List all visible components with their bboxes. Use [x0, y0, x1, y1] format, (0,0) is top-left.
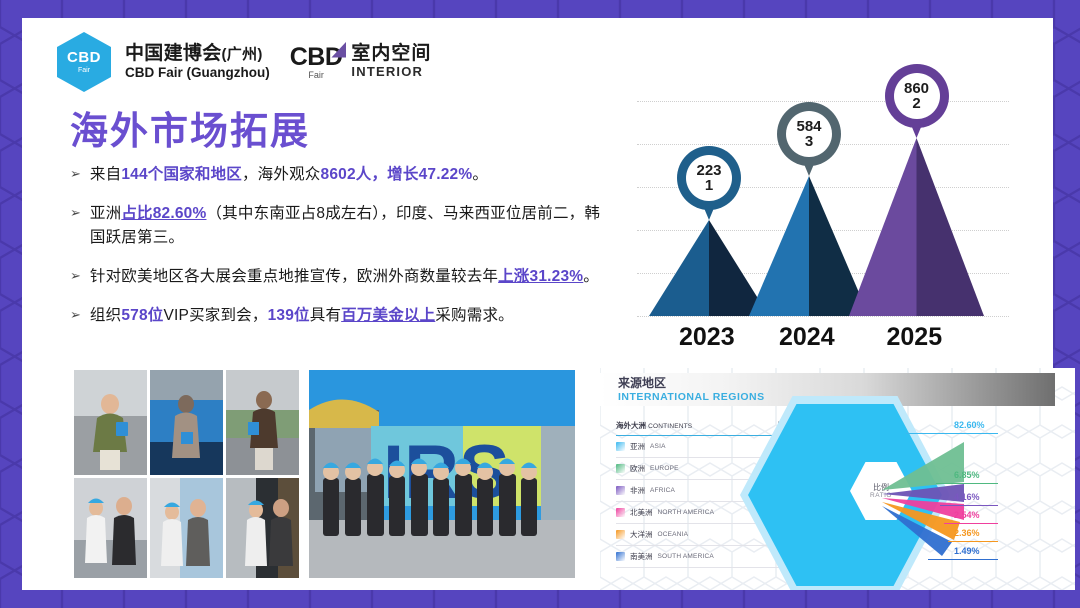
brand-name-en: CBD Fair (Guangzhou)	[125, 65, 270, 81]
highlight-run: 占比82.60%	[121, 205, 206, 222]
callout-percent-label: 4.16%	[954, 492, 980, 502]
region-name-zh: 南美洲	[630, 551, 653, 562]
callout-leader-line	[906, 433, 998, 434]
photo-thumb	[74, 478, 147, 578]
brand-text-block: 中国建博会(广州) CBD Fair (Guangzhou)	[125, 44, 270, 80]
callout-leader-line	[928, 559, 998, 560]
region-color-swatch-icon	[616, 486, 625, 495]
slide-root: CBD Fair 中国建博会(广州) CBD Fair (Guangzhou) …	[0, 0, 1080, 608]
interior-zh: 室内空间	[351, 44, 431, 65]
page-title: 海外市场拓展	[70, 100, 310, 155]
pin-value-line2: 1	[705, 178, 713, 193]
photo-thumb	[74, 370, 147, 475]
region-name-en: EUROPE	[650, 465, 679, 472]
regions-title-zh: 来源地区	[618, 376, 765, 391]
bullet-text: 针对欧美地区各大展会重点地推宣传，欧洲外商数量较去年上涨31.23%。	[90, 265, 599, 288]
region-name-en: NORTH AMERICA	[658, 509, 715, 516]
pin-value-label: 2231	[686, 155, 732, 201]
slide-canvas: CBD Fair 中国建博会(广州) CBD Fair (Guangzhou) …	[22, 18, 1053, 590]
highlight-run: 百万美金以上	[341, 307, 435, 324]
chart-value-pin: 2231	[677, 146, 741, 224]
chart-category-label: 2025	[887, 323, 943, 352]
callout-percent-label: 2.36%	[954, 528, 980, 538]
cbd-wordmark-icon: CBD Fair	[290, 45, 343, 80]
callout-percent-label: 2.54%	[954, 510, 980, 520]
text-run: 组织	[90, 307, 121, 324]
pin-value-line2: 3	[805, 134, 813, 149]
photo-grid	[74, 370, 299, 578]
highlight-run: 144个国家和地区	[121, 166, 242, 183]
logo-fair-text: Fair	[78, 67, 90, 74]
chart-value-pin: 8602	[885, 64, 949, 142]
international-regions-panel: 来源地区 INTERNATIONAL REGIONS 海外大洲 CONTINEN…	[600, 368, 1075, 590]
interior-en: INTERIOR	[351, 65, 431, 79]
text-run: 来自	[90, 166, 121, 183]
chart-category-label: 2024	[779, 323, 835, 352]
regions-heading: 来源地区 INTERNATIONAL REGIONS	[618, 376, 765, 403]
chart-value-pin: 5843	[777, 102, 841, 180]
text-run: 采购需求。	[435, 307, 514, 324]
text-run: 。	[583, 268, 599, 285]
cbd-interior-logo: CBD Fair 室内空间 INTERIOR	[290, 44, 432, 79]
logo-cbd-text: CBD	[67, 50, 101, 65]
region-name-en: AFRICA	[650, 487, 675, 494]
photo-collage: IRS	[74, 370, 575, 578]
pin-value-line1: 584	[796, 119, 821, 134]
highlight-run: 上涨31.23%	[498, 268, 583, 285]
region-name-zh: 北美洲	[630, 507, 653, 518]
region-name-zh: 欧洲	[630, 463, 645, 474]
photo-thumb	[150, 370, 223, 475]
bullet-item: ➢来自144个国家和地区，海外观众8602人，增长47.22%。	[70, 163, 610, 186]
region-name-zh: 大洋洲	[630, 529, 653, 540]
photo-thumb	[226, 478, 299, 578]
highlight-run: 139位	[268, 307, 310, 324]
pin-value-label: 5843	[786, 111, 832, 157]
header-logo-bar: CBD Fair 中国建博会(广州) CBD Fair (Guangzhou) …	[57, 32, 431, 92]
cbd-fair-hex-logo-icon: CBD Fair	[57, 32, 111, 92]
photo-thumb	[150, 478, 223, 578]
region-color-swatch-icon	[616, 464, 625, 473]
pin-value-label: 8602	[894, 73, 940, 119]
pin-value-line1: 223	[696, 163, 721, 178]
region-color-swatch-icon	[616, 552, 625, 561]
bullet-arrow-icon: ➢	[70, 163, 81, 185]
feature-photo: IRS	[309, 370, 575, 578]
ratio-hexagon-chart: 比例 RATIO 82.60%6.85%4.16%2.54%2.36%1.49%	[828, 406, 1068, 584]
region-name-zh: 亚洲	[630, 441, 645, 452]
bullet-item: ➢亚洲占比82.60%（其中东南亚占8成左右），印度、马来西亚位居前二，韩国跃居…	[70, 202, 610, 249]
callout-percent-label: 1.49%	[954, 546, 980, 556]
bullet-text: 来自144个国家和地区，海外观众8602人，增长47.22%。	[90, 163, 488, 186]
col-continents-zh: 海外大洲	[616, 421, 646, 430]
bullet-item: ➢针对欧美地区各大展会重点地推宣传，欧洲外商数量较去年上涨31.23%。	[70, 265, 610, 288]
region-name-en: OCEANIA	[658, 531, 689, 538]
region-name-en: ASIA	[650, 443, 666, 450]
col-continents-en: CONTINENTS	[648, 423, 692, 430]
callout-percent-label: 82.60%	[954, 420, 985, 430]
interior-label-block: 室内空间 INTERIOR	[351, 44, 431, 79]
overseas-visitors-chart: 223120235843202486022025	[629, 58, 1049, 358]
logo2-fair-text: Fair	[308, 71, 324, 80]
bullet-arrow-icon: ➢	[70, 202, 81, 224]
region-color-swatch-icon	[616, 530, 625, 539]
pin-value-line1: 860	[904, 81, 929, 96]
text-run: 亚洲	[90, 205, 121, 222]
region-color-swatch-icon	[616, 442, 625, 451]
chart-category-label: 2023	[679, 323, 735, 352]
chart-triangle	[849, 138, 984, 316]
bullet-item: ➢组织578位VIP买家到会，139位具有百万美金以上采购需求。	[70, 304, 610, 327]
callout-leader-line	[944, 523, 998, 524]
callout-leader-line	[940, 505, 998, 506]
callout-percent-label: 6.85%	[954, 470, 980, 480]
region-name-zh: 非洲	[630, 485, 645, 496]
bullet-text: 组织578位VIP买家到会，139位具有百万美金以上采购需求。	[90, 304, 514, 327]
highlight-run: 578位	[121, 307, 163, 324]
bullet-text: 亚洲占比82.60%（其中东南亚占8成左右），印度、马来西亚位居前二，韩国跃居第…	[90, 202, 610, 249]
region-color-swatch-icon	[616, 508, 625, 517]
brand-name-zh: 中国建博会(广州)	[125, 44, 270, 65]
text-run: 针对欧美地区各大展会重点地推宣传，欧洲外商数量较去年	[90, 268, 498, 285]
regions-title-en: INTERNATIONAL REGIONS	[618, 391, 765, 403]
chart-gridline	[637, 316, 1009, 317]
bullet-arrow-icon: ➢	[70, 265, 81, 287]
highlight-run: 8602人，增长47.22%	[321, 166, 473, 183]
region-name-en: SOUTH AMERICA	[658, 553, 714, 560]
photo-thumb	[226, 370, 299, 475]
callout-leader-line	[948, 541, 998, 542]
text-run: VIP买家到会，	[163, 307, 267, 324]
bullet-arrow-icon: ➢	[70, 304, 81, 326]
bullet-list: ➢来自144个国家和地区，海外观众8602人，增长47.22%。➢亚洲占比82.…	[70, 163, 610, 343]
callout-leader-line	[936, 483, 998, 484]
text-run: 。	[472, 166, 488, 183]
text-run: 具有	[310, 307, 341, 324]
pin-value-line2: 2	[912, 96, 920, 111]
text-run: ，海外观众	[242, 166, 321, 183]
